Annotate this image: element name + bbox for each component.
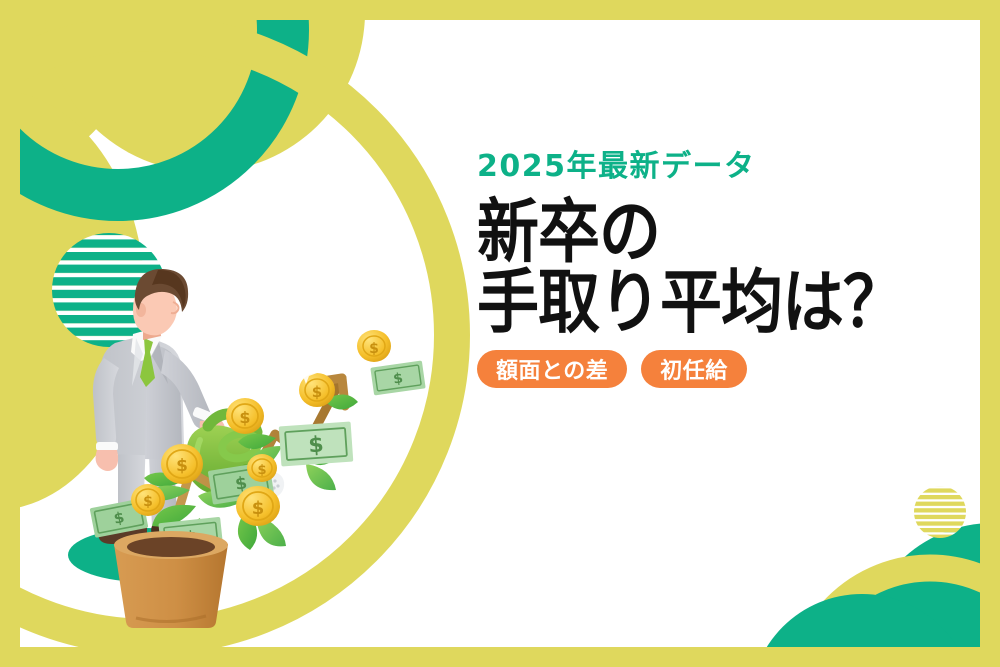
left-cuff: [96, 442, 118, 451]
page-title: 新卒の 手取り平均は？: [477, 196, 977, 338]
svg-text:$: $: [252, 498, 265, 519]
badge-starting-salary[interactable]: 初任給: [641, 350, 747, 388]
left-hand: [96, 450, 119, 471]
gold-coin: $: [161, 444, 203, 484]
dollar-bill: $: [279, 422, 354, 467]
headline-text-block: 2025年最新データ 新卒の 手取り平均は？ 額面との差 初任給: [477, 152, 977, 388]
yellow-striped-circle-bottom-right: [914, 486, 966, 538]
gold-coin: $: [226, 398, 264, 434]
svg-text:$: $: [312, 383, 322, 401]
gold-coin: $: [131, 484, 165, 516]
svg-text:$: $: [257, 463, 266, 478]
headline-line-1: 新卒の: [477, 196, 977, 267]
gold-coin: $: [236, 486, 280, 526]
svg-text:$: $: [176, 456, 188, 476]
gold-coin: $: [357, 330, 391, 362]
svg-text:$: $: [308, 432, 325, 458]
blog-hero-banner: $ $ $ $ $: [0, 0, 1000, 667]
gold-coin: $: [247, 454, 277, 482]
headline-line-2: 手取り平均は？: [477, 267, 977, 338]
pot-soil: [127, 537, 215, 557]
businessman-watering-money-tree-illustration: $ $ $ $ $: [40, 258, 460, 628]
leaf: [306, 464, 336, 490]
eyebrow-label: 2025年最新データ: [477, 152, 977, 182]
svg-text:$: $: [239, 408, 250, 427]
svg-text:$: $: [143, 494, 153, 510]
badge-row: 額面との差 初任給: [477, 350, 977, 388]
flower-pot: [114, 531, 228, 628]
dollar-bill: $: [370, 361, 425, 396]
svg-text:$: $: [369, 341, 379, 357]
badge-gross-vs-net[interactable]: 額面との差: [477, 350, 627, 388]
